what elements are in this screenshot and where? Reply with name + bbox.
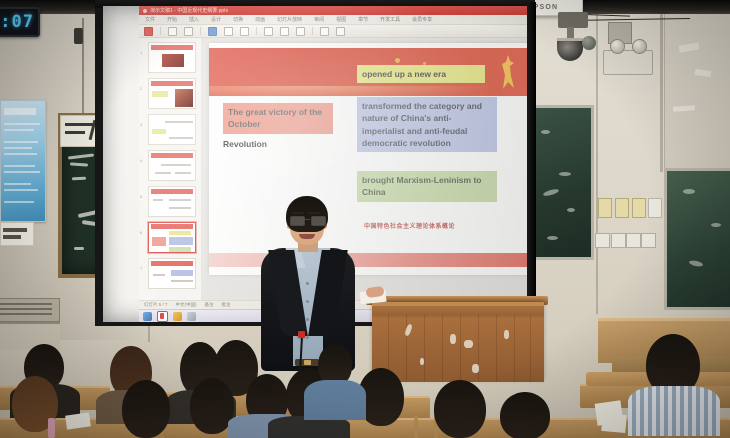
student-shoulders [304,380,366,420]
wall-clock: :07 [0,7,40,37]
student-shoulders-plaid [628,386,720,436]
clock-display: :07 [0,12,34,32]
select-icon[interactable] [336,27,345,36]
screen-right-edge [527,2,536,322]
ribbon-toolbar[interactable] [139,25,527,38]
slide-thumbnail-selected[interactable] [148,222,196,253]
font-icon[interactable] [168,27,177,36]
menu-item-transitions[interactable]: 切换 [233,16,243,23]
wall-wire [82,18,84,113]
thumbnail-number: 7 [140,266,142,271]
slide-textbox-overflow[interactable]: Revolution [223,139,353,149]
app-title-text: 演示文稿1 - 中国近现代史纲要.pptx [150,7,228,14]
paste-icon[interactable] [144,27,153,36]
slide-thumbnail-panel[interactable]: 1 2 3 4 [139,38,202,300]
tape-piece [679,42,700,52]
revolutionary-figure-icon [501,54,515,90]
tape-piece [673,105,695,112]
slide-footer-chinese: 中国特色社会主义理论体系概论 [364,221,455,230]
status-slide-count: 幻灯片 5 / 7 [144,302,168,308]
slide-thumbnail[interactable] [148,114,196,145]
menu-item-file[interactable]: 文件 [145,16,155,23]
menu-item-devtools[interactable]: 开发工具 [380,16,400,23]
wall-seam [596,14,598,314]
thumbnail-number: 2 [140,86,142,91]
status-comments[interactable]: 批注 [222,302,231,308]
blue-poster [0,100,46,222]
white-notice [0,222,34,246]
student-head [122,380,170,438]
ceiling-speaker-icon [582,36,596,50]
wall-seam [660,12,663,172]
status-notes[interactable]: 备注 [205,302,214,308]
control-panel [603,50,653,75]
browser-icon[interactable] [143,312,152,321]
tape-piece [695,69,712,77]
slide-textbox-red[interactable]: The great victory of the October [223,103,333,134]
thumbnail-number: 3 [140,122,142,127]
layout-icon[interactable] [224,27,233,36]
fill-color-icon[interactable] [280,27,289,36]
slide-thumbnail[interactable] [148,150,196,181]
menu-item-design[interactable]: 设计 [211,16,221,23]
folder-icon[interactable] [173,312,182,321]
menu-item-insert[interactable]: 插入 [189,16,199,23]
menu-item-slideshow[interactable]: 幻灯片放映 [277,16,302,23]
right-chalkboard-a [530,105,594,260]
slide-textbox-yellow[interactable]: opened up a new era [357,65,485,83]
menu-item-member[interactable]: 会员专享 [412,16,432,23]
slide-editing-area[interactable]: The great victory of the October Revolut… [201,38,527,300]
slide-textbox-blue[interactable]: transformed the category and nature of C… [357,97,497,152]
window-icon[interactable] [187,312,196,321]
student-head [434,380,486,438]
shapes-icon[interactable] [240,27,249,36]
bold-icon[interactable] [184,27,193,36]
find-icon[interactable] [320,27,329,36]
arrange-icon[interactable] [296,27,305,36]
student-head [500,392,550,438]
right-chalkboard-b [664,168,730,310]
slide-thumbnail[interactable] [148,186,196,217]
thumbnail-number: 4 [140,158,142,163]
wps-icon[interactable] [157,311,168,322]
menu-item-view[interactable]: 视图 [336,16,346,23]
camera-mount [558,12,588,28]
new-slide-icon[interactable] [208,27,217,36]
wall-panel [664,10,730,170]
menu-item-animations[interactable]: 动画 [255,16,265,23]
align-icon[interactable] [264,27,273,36]
thumbnail-number: 5 [140,194,142,199]
thumbnail-number: 6 [140,230,142,235]
eyeglasses-icon [290,216,324,224]
presenter-smile [299,234,315,239]
lecture-hall-photo: :07 EPSON [0,0,730,438]
power-sockets[interactable] [595,233,655,246]
audience-area [0,330,730,438]
water-bottle [48,418,55,438]
status-language: 中文(中国) [176,302,197,308]
menu-item-section[interactable]: 章节 [358,16,368,23]
menu-bar[interactable]: 文件 开始 插入 设计 切换 动画 幻灯片放映 审阅 视图 章节 开发工具 会员… [139,15,527,25]
slide-thumbnail[interactable] [148,78,196,109]
app-title-bar: 演示文稿1 - 中国近现代史纲要.pptx [139,6,527,15]
student-paper [601,413,626,433]
menu-item-review[interactable]: 审阅 [314,16,324,23]
menu-item-home[interactable]: 开始 [167,16,177,23]
wall-vent [0,298,60,322]
slide-thumbnail[interactable] [148,42,196,73]
slide-thumbnail[interactable] [148,258,196,289]
slide-textbox-green[interactable]: brought Marxism-Leninism to China [357,171,497,202]
light-switches[interactable] [598,198,660,216]
presenter-hair [286,196,328,232]
thumbnail-number: 1 [140,50,142,55]
